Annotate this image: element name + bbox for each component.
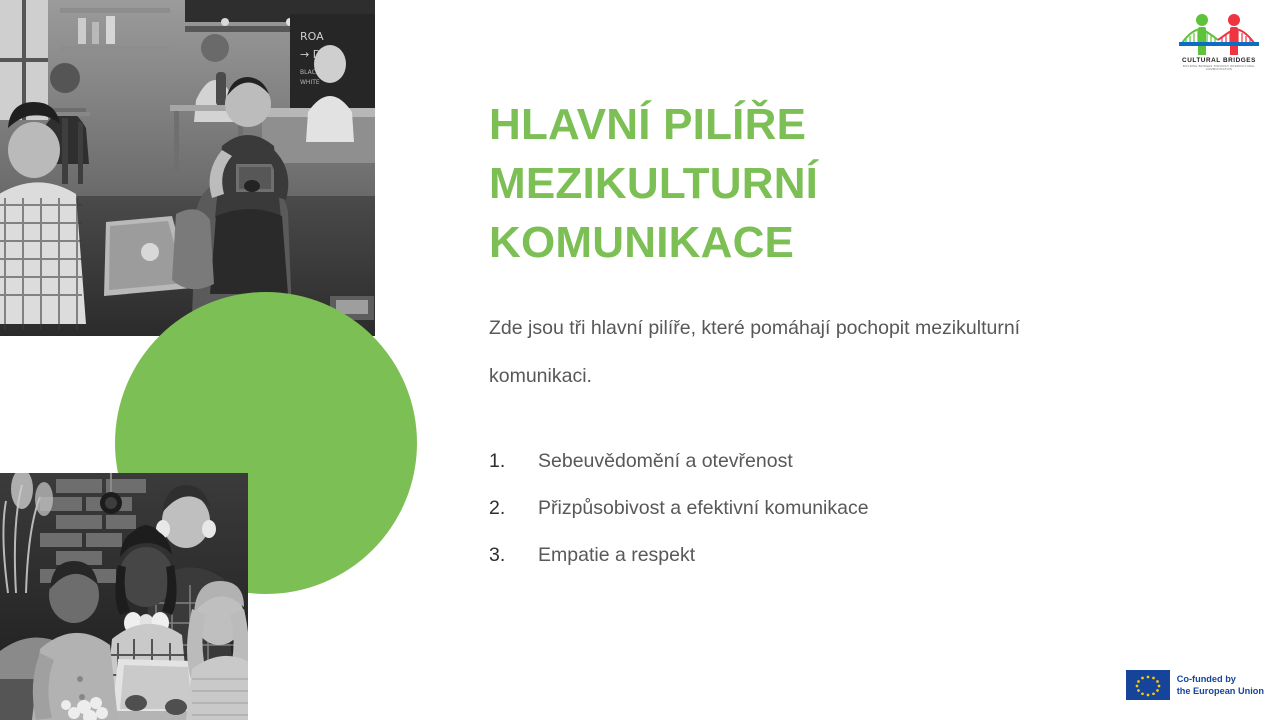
eu-cofunding-line1: Co-funded by [1177,673,1264,685]
slide-content: HLAVNÍ PILÍŘE MEZIKULTURNÍ KOMUNIKACE Zd… [489,0,1109,720]
list-item: 2. Přizpůsobivost a efektivní komunikace [489,497,1069,544]
list-item: 3. Empatie a respekt [489,544,1069,591]
slide-canvas: ROA → DA BLACK WHITE [0,0,1280,720]
page-title: HLAVNÍ PILÍŘE MEZIKULTURNÍ KOMUNIKACE [489,96,929,273]
photo-top-illustration: ROA → DA BLACK WHITE [0,0,375,336]
intro-paragraph: Zde jsou tři hlavní pilíře, které pomáha… [489,305,1079,401]
cultural-bridges-logo: CULTURAL BRIDGES BUILDING BRIDGES THROUG… [1176,12,1262,71]
svg-text:ROA: ROA [300,30,324,43]
bridge-icon [1176,12,1262,56]
svg-text:WHITE: WHITE [300,79,320,86]
eu-cofunding-line2: the European Union [1177,685,1264,697]
photo-diverse-group [0,473,248,720]
cultural-bridges-tagline: BUILDING BRIDGES THROUGH INTERCULTURAL C… [1176,65,1262,70]
eu-cofunding-logo: Co-funded by the European Union [1126,670,1264,700]
list-item-label: Empatie a respekt [538,544,695,567]
photo-bottom-illustration [0,473,248,720]
list-item: 1. Sebeuvědomění a otevřenost [489,450,1069,497]
list-item-number: 1. [489,450,538,473]
european-union-flag-icon [1126,670,1170,700]
photo-cafe-two-men: ROA → DA BLACK WHITE [0,0,375,336]
list-item-label: Sebeuvědomění a otevřenost [538,450,793,473]
list-item-label: Přizpůsobivost a efektivní komunikace [538,497,869,520]
cultural-bridges-name: CULTURAL BRIDGES [1176,57,1262,64]
list-item-number: 2. [489,497,538,520]
pillars-list: 1. Sebeuvědomění a otevřenost 2. Přizpůs… [489,450,1069,591]
eu-cofunding-text: Co-funded by the European Union [1177,673,1264,697]
list-item-number: 3. [489,544,538,567]
